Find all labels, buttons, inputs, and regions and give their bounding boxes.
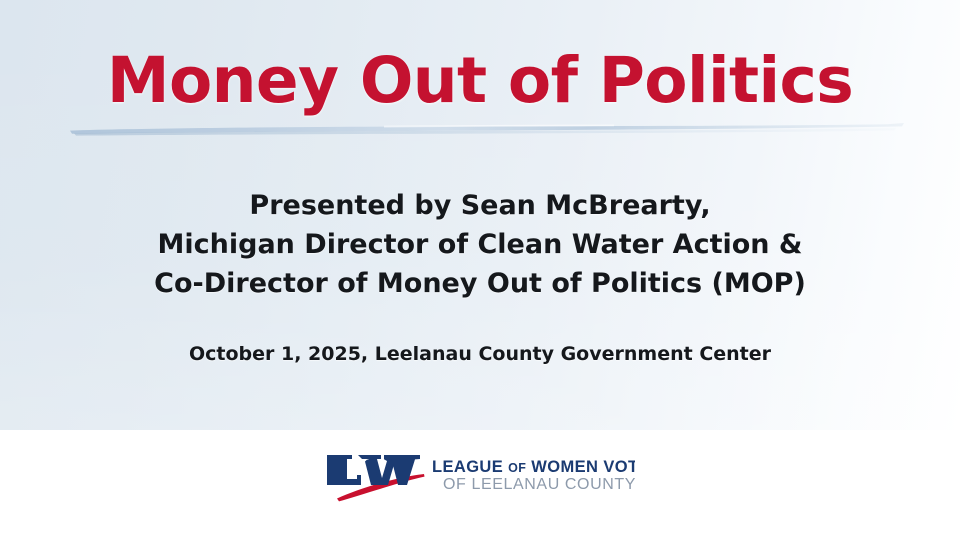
- title-container: Money Out of Politics: [0, 48, 960, 114]
- page-title: Money Out of Politics: [107, 48, 853, 114]
- lwv-logo: LEAGUE OF WOMEN VOTERS® OF LEELANAU COUN…: [325, 448, 635, 504]
- presentation-slide: Money Out of Politics: [0, 0, 960, 540]
- logo-org-name-line1: LEAGUE OF WOMEN VOTERS®: [432, 458, 635, 476]
- event-date-location: October 1, 2025, Leelanau County Governm…: [0, 341, 960, 367]
- subtitle-container: Presented by Sean McBrearty, Michigan Di…: [0, 186, 960, 303]
- subtitle-line-1: Presented by Sean McBrearty,: [0, 186, 960, 225]
- logo-org-name-line2: OF LEELANAU COUNTY: [443, 476, 635, 493]
- subtitle-line-2: Michigan Director of Clean Water Action …: [0, 225, 960, 264]
- subtitle-line-3: Co-Director of Money Out of Politics (MO…: [0, 264, 960, 303]
